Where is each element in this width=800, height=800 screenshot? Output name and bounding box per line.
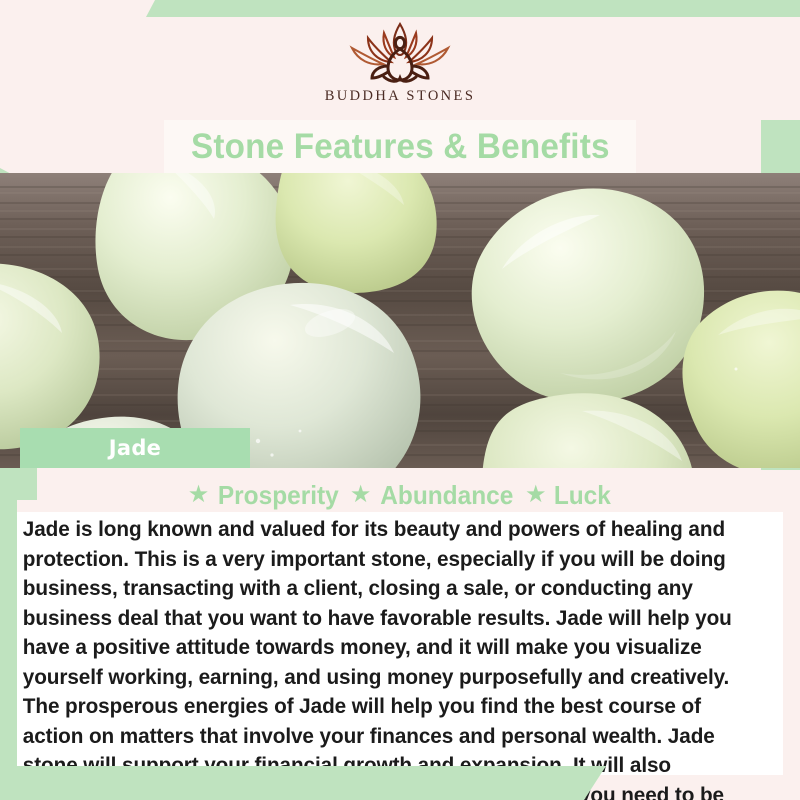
description-block: Jade is long known and valued for its be… bbox=[17, 512, 783, 775]
decoration-top-right-band bbox=[146, 0, 800, 17]
jade-stones-photo bbox=[0, 173, 800, 468]
star-icon: ★ bbox=[350, 483, 372, 507]
decoration-bottom-band bbox=[0, 766, 606, 800]
stone-name-label: Jade bbox=[109, 436, 161, 460]
brand-wordmark: BUDDHA STONES bbox=[325, 88, 476, 105]
keyword-item-abundance: ★ Abundance bbox=[350, 480, 518, 511]
decoration-text-left-strip bbox=[0, 500, 17, 766]
stone-name-band: Jade bbox=[20, 428, 250, 468]
star-icon: ★ bbox=[525, 483, 547, 507]
star-icon: ★ bbox=[188, 483, 210, 507]
keyword-label: Prosperity bbox=[218, 480, 339, 511]
keyword-item-luck: ★ Luck bbox=[525, 480, 612, 511]
stone-info-card: BUDDHA STONES Stone Features & Benefits bbox=[0, 0, 800, 800]
description-text: Jade is long known and valued for its be… bbox=[17, 515, 756, 800]
page-title: Stone Features & Benefits bbox=[191, 127, 610, 167]
brand-header: BUDDHA STONES bbox=[0, 17, 800, 120]
keyword-label: Luck bbox=[553, 480, 610, 511]
keyword-row: ★ Prosperity ★ Abundance ★ Luck bbox=[0, 478, 800, 512]
keyword-label: Abundance bbox=[381, 480, 514, 511]
keyword-item-prosperity: ★ Prosperity bbox=[188, 480, 343, 511]
title-banner: Stone Features & Benefits bbox=[164, 120, 636, 173]
lotus-meditation-icon bbox=[340, 20, 460, 86]
